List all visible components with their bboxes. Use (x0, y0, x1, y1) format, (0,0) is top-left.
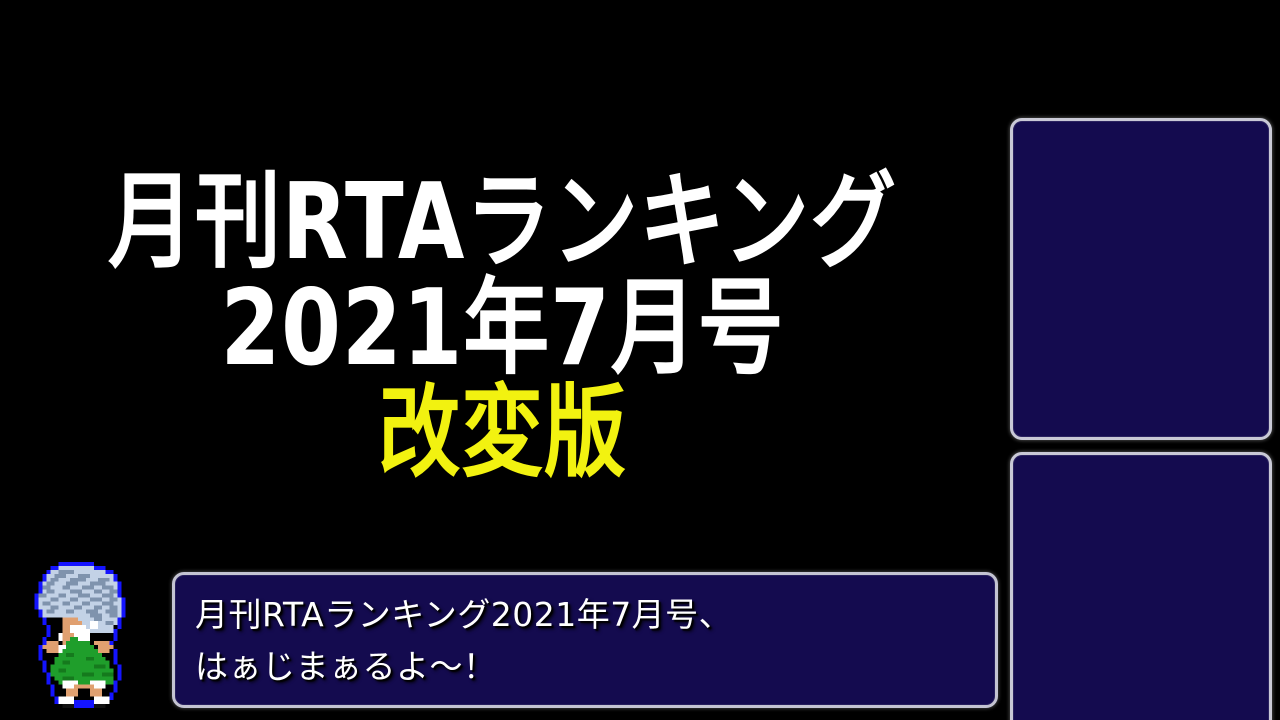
video-frame: 月刊RTAランキング 2021年7月号 改変版 月刊RTAランキング2021年7… (0, 0, 1280, 720)
dialog-line-1: 月刊RTAランキング2021年7月号、 (195, 589, 975, 641)
dialog-box: 月刊RTAランキング2021年7月号、 はぁじまぁるよ〜！ (172, 572, 998, 708)
title-line-3-variant: 改変版 (0, 384, 1005, 484)
dialog-line-2: はぁじまぁるよ〜！ (195, 641, 975, 693)
side-panel-bottom (1010, 452, 1272, 720)
title-line-2: 2021年7月号 (0, 276, 1005, 381)
title-line-1: 月刊RTAランキング (0, 170, 1005, 275)
character-sprite (26, 558, 138, 716)
side-panel-top (1010, 118, 1272, 440)
title-block: 月刊RTAランキング 2021年7月号 改変版 (0, 170, 1005, 466)
